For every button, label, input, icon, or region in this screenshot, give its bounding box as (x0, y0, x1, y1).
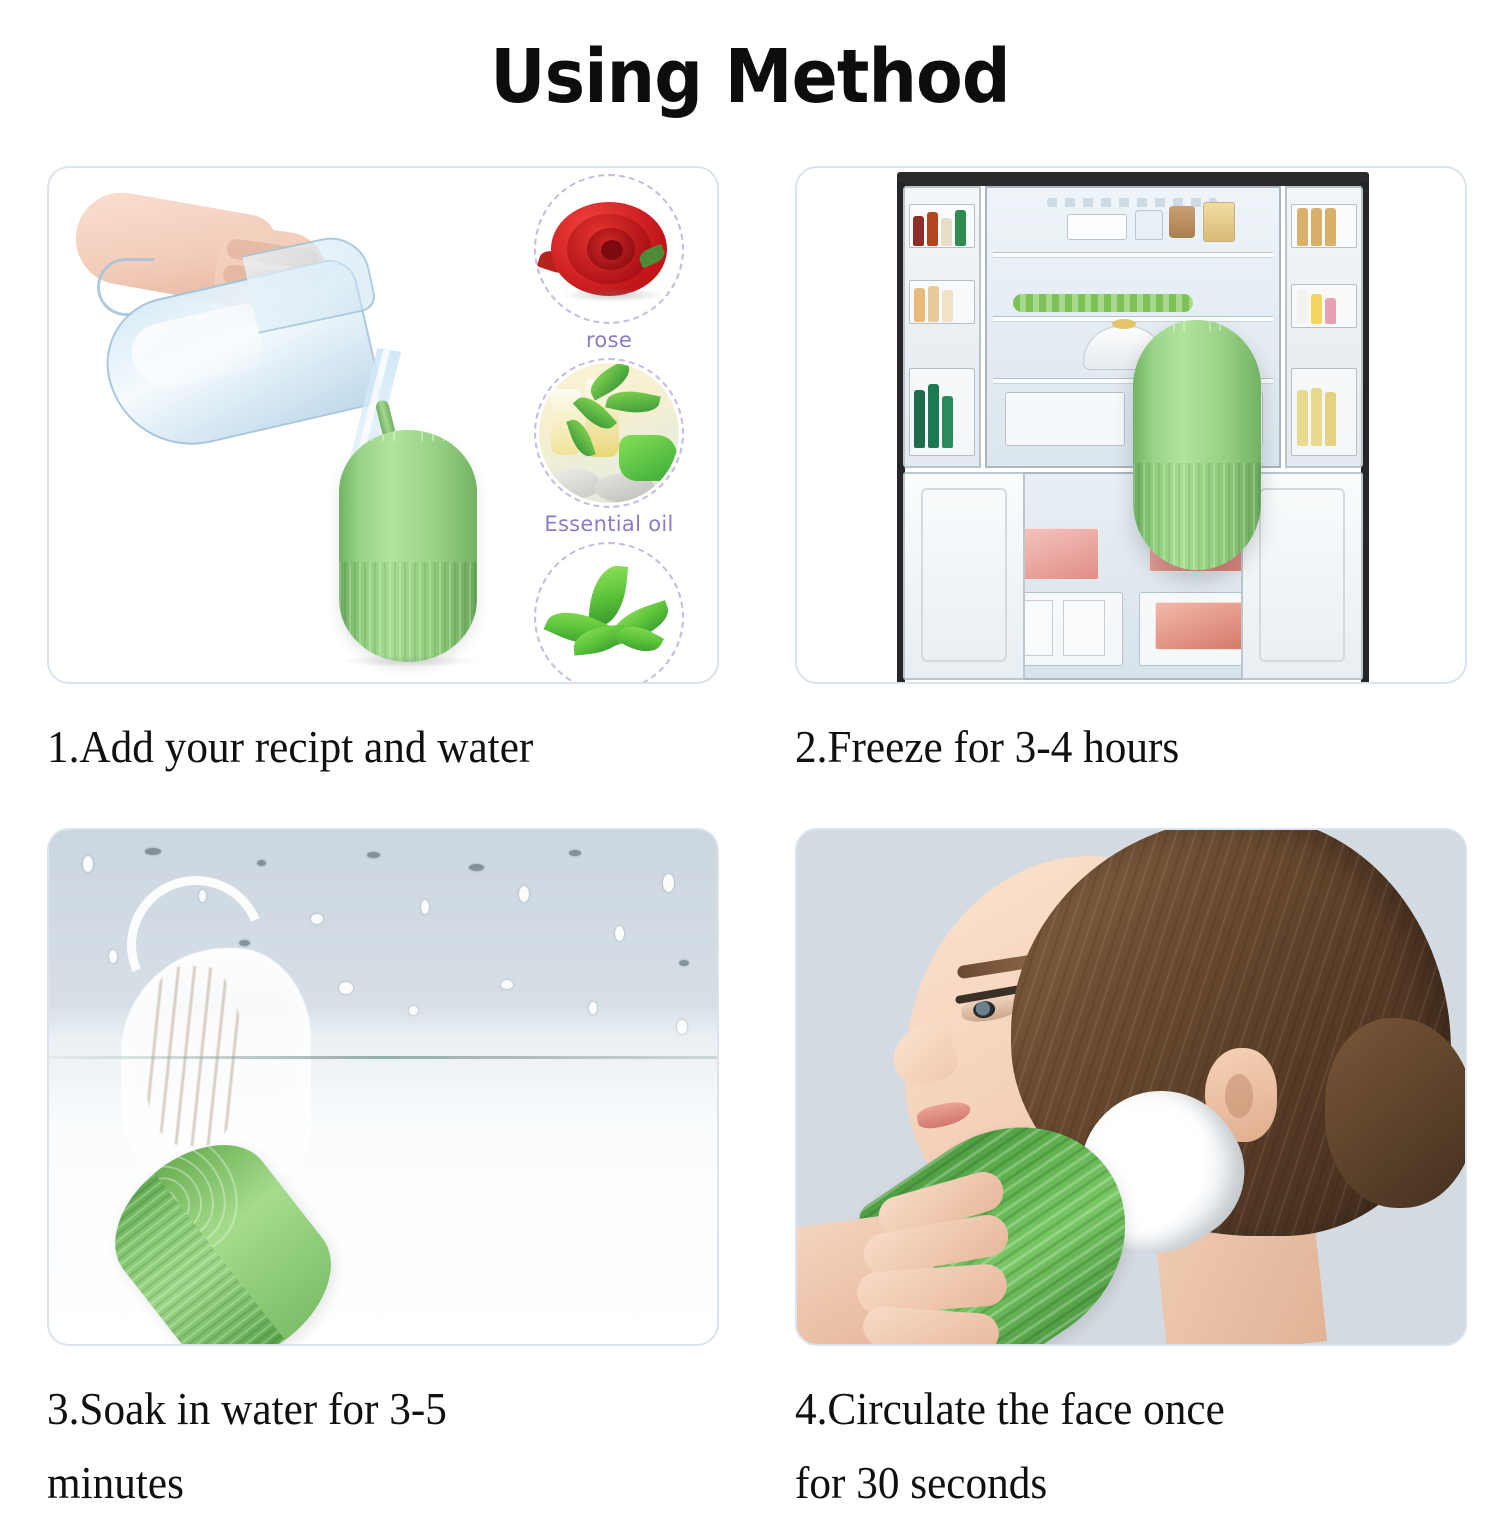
step-2-caption: 2.Freeze for 3-4 hours (795, 710, 1453, 784)
roller-shadow (337, 655, 481, 667)
roller-body (1133, 320, 1261, 570)
ice-roller-product (88, 1116, 357, 1346)
ingredient-essential-oil: Essential oil (514, 358, 704, 536)
step-1-cell: rose (47, 166, 747, 784)
fridge-top-frame (897, 172, 1369, 186)
steps-grid: rose (0, 0, 1500, 1500)
rose-icon (549, 194, 669, 304)
essential-oil-icon (539, 363, 679, 503)
ice-roller-product (1133, 320, 1261, 570)
step-1-image-panel: rose (47, 166, 719, 684)
fridge-drawer-left (1005, 392, 1125, 446)
rose-label: rose (514, 328, 704, 352)
roller-cap (339, 430, 477, 562)
roller-vertical-ribs (339, 562, 477, 662)
water-pitcher-illustration (73, 196, 403, 436)
green-tea-icon (547, 565, 671, 669)
fridge-door-upper-right[interactable] (1285, 186, 1363, 468)
hand-fingers (857, 1182, 1107, 1346)
essential-oil-label: Essential oil (514, 512, 704, 536)
roller-cap (1133, 320, 1261, 463)
food-pack-3 (1155, 602, 1247, 650)
fridge-door-lower-left[interactable] (903, 472, 1025, 680)
ingredient-rose: rose (514, 174, 704, 352)
essential-oil-circle (534, 358, 684, 508)
water-surface-line (49, 1056, 717, 1059)
roller-vertical-ribs (1133, 463, 1261, 571)
fridge-door-upper-left[interactable] (903, 186, 981, 468)
woman-portrait (797, 830, 1465, 1344)
green-tea-circle (534, 542, 684, 684)
step-4-cell: 4.Circulate the face once for 30 seconds (795, 828, 1495, 1520)
step-4-image-panel (795, 828, 1467, 1346)
rose-circle (534, 174, 684, 324)
roller-body (88, 1116, 357, 1346)
step-3-cell: 3.Soak in water for 3-5 minutes (47, 828, 747, 1520)
step-2-cell: 2.Freeze for 3-4 hours (795, 166, 1495, 784)
ingredient-green-tea: green tea (514, 542, 704, 684)
vegetable-tray (1013, 294, 1193, 312)
hair-bun (1325, 1018, 1467, 1208)
ingredient-list: rose (509, 174, 709, 684)
roller-body (339, 430, 477, 662)
step-4-caption: 4.Circulate the face once for 30 seconds (795, 1372, 1453, 1520)
step-3-caption: 3.Soak in water for 3-5 minutes (47, 1372, 705, 1520)
step-1-caption: 1.Add your recipt and water (47, 710, 705, 784)
step-2-image-panel (795, 166, 1467, 684)
ice-roller-product (339, 430, 477, 662)
step-3-image-panel (47, 828, 719, 1346)
refrigerator-illustration (897, 172, 1369, 684)
